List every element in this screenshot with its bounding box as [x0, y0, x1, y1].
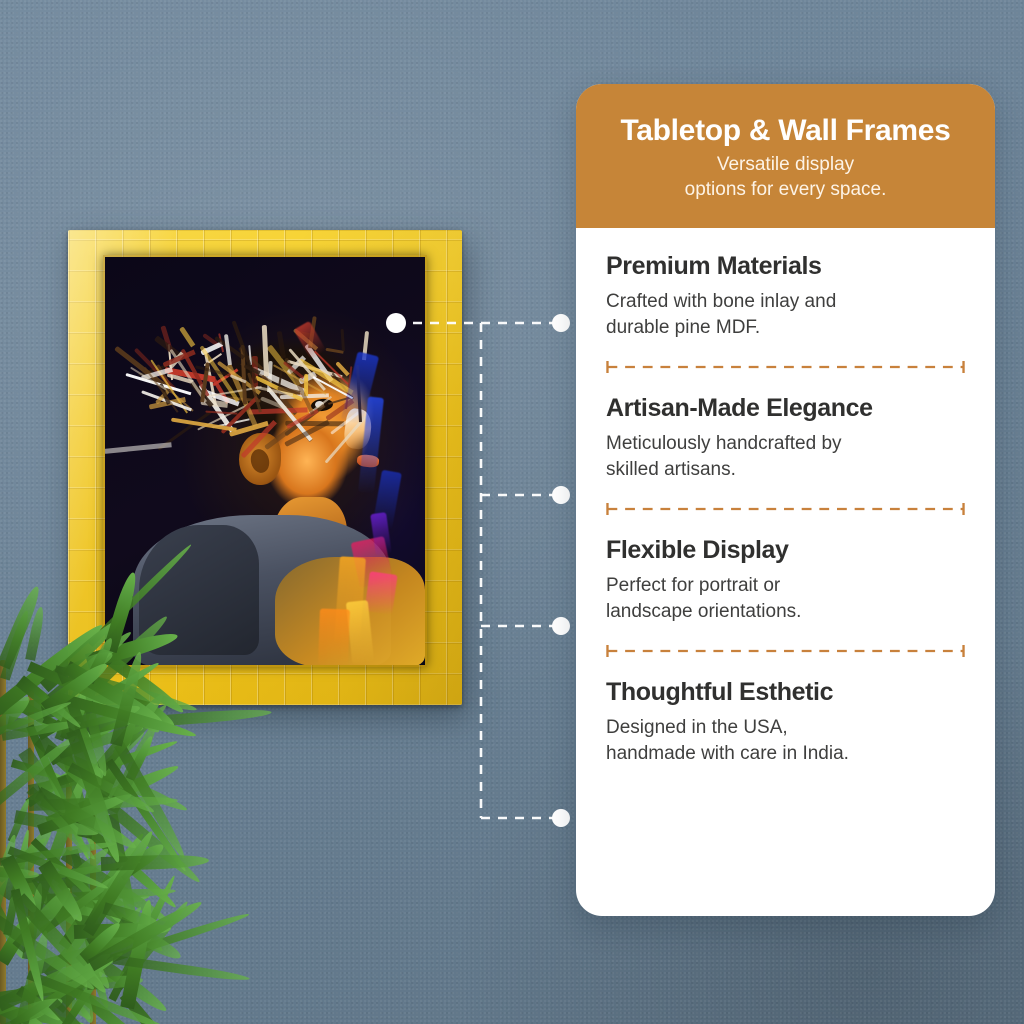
- infographic-stage: Tabletop & Wall Frames Versatile display…: [0, 0, 1024, 1024]
- feature-divider-3: [606, 624, 965, 678]
- dimension-line-icon: [606, 361, 965, 373]
- card-header: Tabletop & Wall Frames Versatile display…: [576, 84, 995, 228]
- feature-title: Flexible Display: [606, 536, 965, 565]
- feature-divider-2: [606, 482, 965, 536]
- feature-desc-line-2: skilled artisans.: [606, 457, 965, 483]
- feature-divider-1: [606, 340, 965, 394]
- feature-desc-line-1: Crafted with bone inlay and: [606, 289, 965, 315]
- feature-desc-line-1: Designed in the USA,: [606, 715, 965, 741]
- feature-desc-line-2: durable pine MDF.: [606, 315, 965, 341]
- feature-card: Tabletop & Wall Frames Versatile display…: [576, 84, 995, 916]
- feature-title: Premium Materials: [606, 252, 965, 281]
- feature-list: Premium Materials Crafted with bone inla…: [576, 228, 995, 786]
- feature-item-1: Premium Materials Crafted with bone inla…: [606, 252, 965, 340]
- feature-item-3: Flexible Display Perfect for portrait or…: [606, 536, 965, 624]
- feature-desc-line-1: Meticulously handcrafted by: [606, 431, 965, 457]
- dimension-line-icon: [606, 645, 965, 657]
- feature-title: Thoughtful Esthetic: [606, 678, 965, 707]
- houseplant: [0, 600, 270, 1024]
- feature-description: Crafted with bone inlay and durable pine…: [606, 289, 965, 340]
- dimension-line-icon: [606, 503, 965, 515]
- feature-desc-line-2: landscape orientations.: [606, 599, 965, 625]
- card-subtitle-line-2: options for every space.: [598, 178, 973, 203]
- card-subtitle-line-1: Versatile display: [598, 153, 973, 178]
- card-subtitle: Versatile display options for every spac…: [598, 153, 973, 202]
- feature-desc-line-2: handmade with care in India.: [606, 741, 965, 767]
- feature-description: Designed in the USA, handmade with care …: [606, 715, 965, 766]
- feature-item-4: Thoughtful Esthetic Designed in the USA,…: [606, 678, 965, 766]
- feature-description: Meticulously handcrafted by skilled arti…: [606, 431, 965, 482]
- feature-title: Artisan-Made Elegance: [606, 394, 965, 423]
- card-title: Tabletop & Wall Frames: [598, 114, 973, 147]
- feature-description: Perfect for portrait or landscape orient…: [606, 573, 965, 624]
- feature-item-2: Artisan-Made Elegance Meticulously handc…: [606, 394, 965, 482]
- feature-desc-line-1: Perfect for portrait or: [606, 573, 965, 599]
